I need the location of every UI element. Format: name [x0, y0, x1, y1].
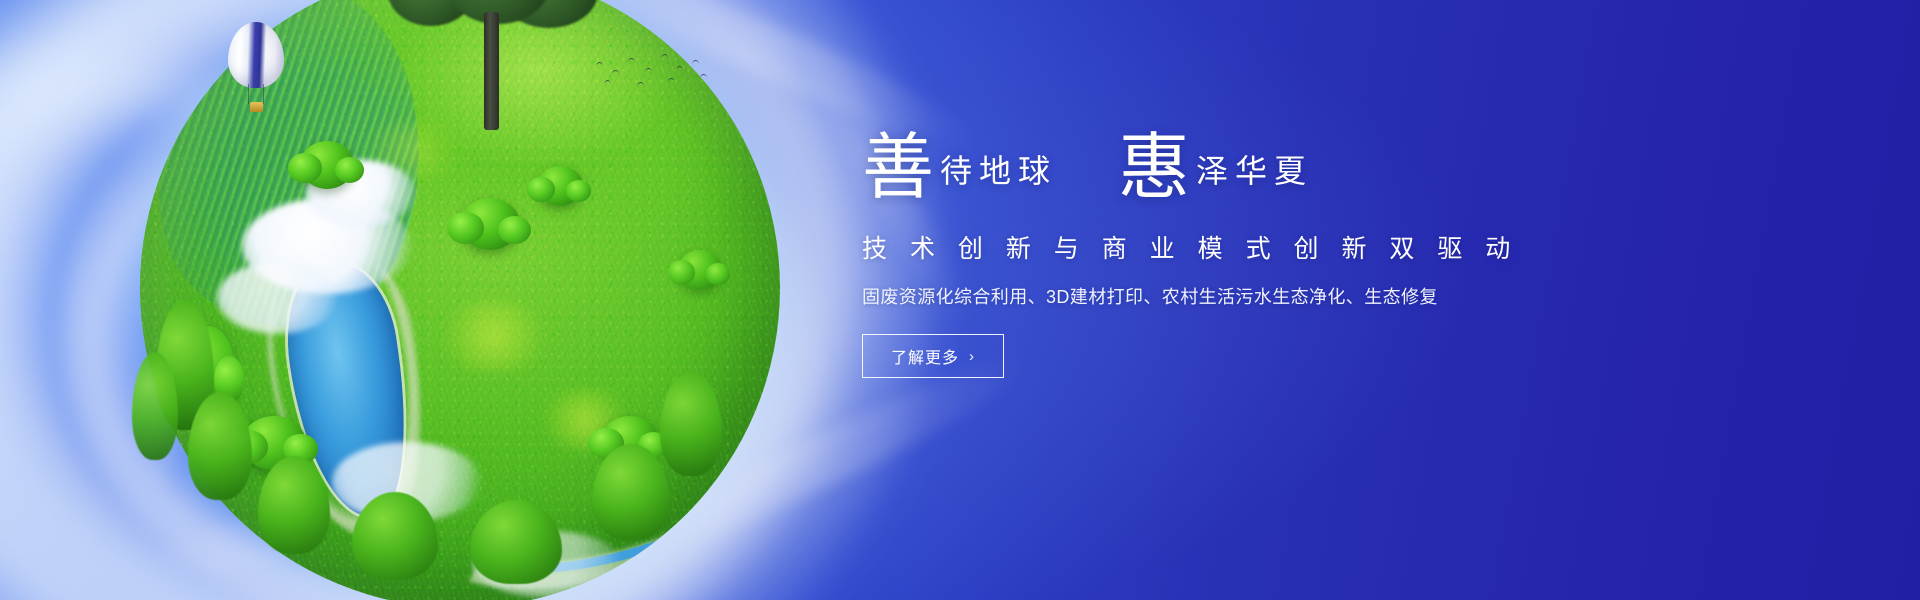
tree-silhouette [388, 0, 604, 118]
headline-phrase-1: 善待地球 [862, 128, 1057, 206]
tree-trunk [484, 12, 499, 130]
balloon-basket [250, 102, 263, 112]
bird-icon [692, 60, 700, 66]
learn-more-button[interactable]: 了解更多 › [862, 334, 1004, 378]
hot-air-balloon [228, 22, 284, 114]
banner-description: 固废资源化综合利用、3D建材打印、农村生活污水生态净化、生态修复 [862, 284, 1562, 310]
page-title: 善待地球 惠泽华夏 [862, 128, 1562, 220]
bird-icon [628, 58, 636, 64]
bird-icon [637, 82, 645, 88]
learn-more-label: 了解更多 [891, 344, 959, 368]
bird-icon [596, 62, 604, 68]
hero-banner: 善待地球 惠泽华夏 技 术 创 新 与 商 业 模 式 创 新 双 驱 动 固废… [0, 0, 1920, 600]
headline-char-large-2: 惠 [1118, 125, 1190, 209]
bird-icon [604, 80, 612, 86]
bird-icon [700, 74, 708, 80]
chevron-right-icon: › [969, 349, 975, 364]
bird-icon [612, 70, 620, 76]
headline-chars-small-1: 待地球 [934, 152, 1057, 190]
banner-content: 善待地球 惠泽华夏 技 术 创 新 与 商 业 模 式 创 新 双 驱 动 固废… [862, 128, 1562, 378]
headline-char-large-1: 善 [862, 125, 934, 209]
banner-subtitle: 技 术 创 新 与 商 业 模 式 创 新 双 驱 动 [862, 232, 1562, 266]
bird-icon [645, 68, 653, 74]
balloon-rope [263, 84, 264, 104]
headline-phrase-2: 惠泽华夏 [1118, 128, 1313, 206]
bird-icon [668, 78, 676, 84]
headline-chars-small-2: 泽华夏 [1190, 152, 1313, 190]
balloon-envelope [228, 22, 284, 88]
bird-icon [661, 54, 669, 60]
balloon-rope [248, 84, 249, 104]
bird-icon [676, 66, 684, 72]
